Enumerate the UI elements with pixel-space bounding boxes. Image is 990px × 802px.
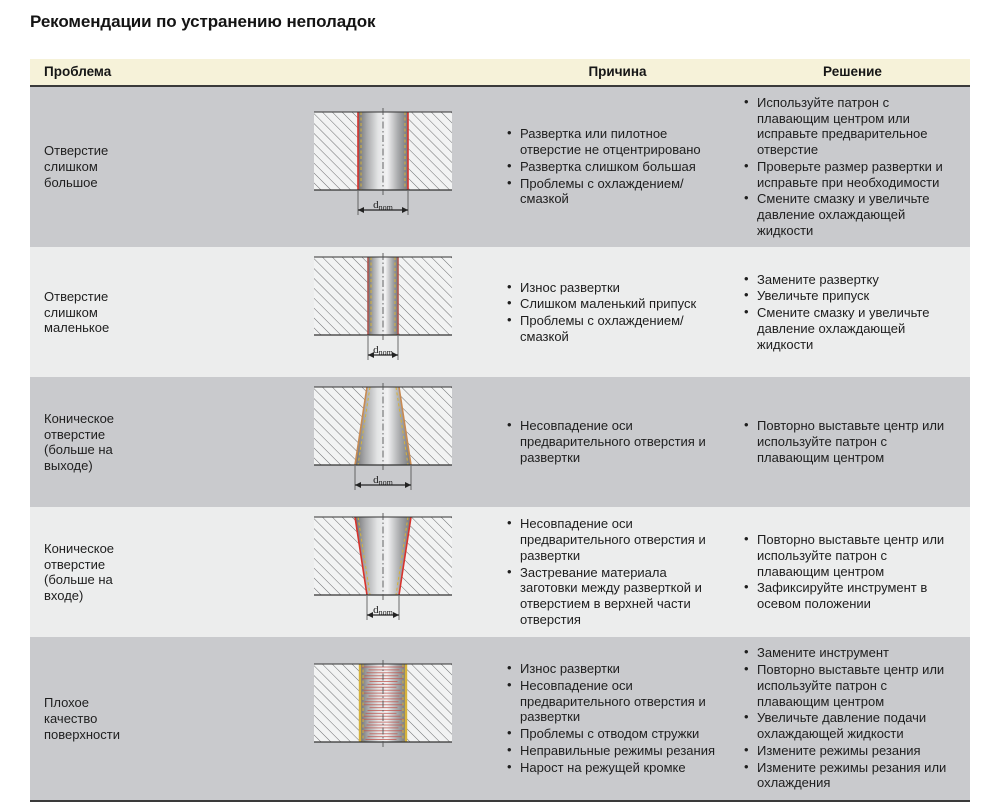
problem-text-line: качество bbox=[44, 711, 259, 727]
header-row: Проблема Причина Решение bbox=[30, 59, 970, 86]
page-title: Рекомендации по устранению неполадок bbox=[30, 12, 375, 32]
cause-list: Несовпадение оси предварительного отверс… bbox=[506, 516, 727, 627]
solution-item: Смените смазку и увеличьте давление охла… bbox=[743, 191, 962, 238]
cause-item: Проблемы с охлаждением/смазкой bbox=[506, 176, 727, 207]
cell-problem: Плохоекачествоповерхности bbox=[30, 637, 265, 800]
solution-item: Проверьте размер развертки и исправьте п… bbox=[743, 159, 962, 190]
problem-text-line: отверстие bbox=[44, 427, 259, 443]
cause-item: Застревание материала заготовки между ра… bbox=[506, 565, 727, 628]
table-row: Коническоеотверстие(больше навходе)dnomН… bbox=[30, 507, 970, 637]
problem-text-line: маленькое bbox=[44, 320, 259, 336]
cell-solution: Замените инструментПовторно выставьте це… bbox=[735, 637, 970, 800]
problem-text-line: Плохое bbox=[44, 695, 259, 711]
cause-item: Проблемы с охлаждением/смазкой bbox=[506, 313, 727, 344]
problem-text-line: Отверстие bbox=[44, 143, 259, 159]
solution-list: Используйте патрон с плавающим центром и… bbox=[743, 95, 962, 238]
cause-item: Износ развертки bbox=[506, 661, 727, 677]
solution-item: Увеличьте давление подачи охлаждающей жи… bbox=[743, 710, 962, 741]
solution-list: Повторно выставьте центр или используйте… bbox=[743, 532, 962, 612]
table-body: ОтверстиеслишкомбольшоеdnomРазвертка или… bbox=[30, 86, 970, 801]
cause-item: Износ развертки bbox=[506, 280, 727, 296]
troubleshooting-table-wrap: Проблема Причина Решение Отверстиеслишко… bbox=[30, 59, 970, 802]
cause-list: Развертка или пилотное отверстие не отце… bbox=[506, 126, 727, 207]
solution-item: Измените режимы резания или охлаждения bbox=[743, 760, 962, 791]
solution-item: Повторно выставьте центр или используйте… bbox=[743, 662, 962, 709]
problem-text-line: входе) bbox=[44, 588, 259, 604]
cell-problem: Коническоеотверстие(больше навыходе) bbox=[30, 377, 265, 507]
cell-problem: Коническоеотверстие(больше навходе) bbox=[30, 507, 265, 637]
solution-item: Используйте патрон с плавающим центром и… bbox=[743, 95, 962, 158]
solution-item: Смените смазку и увеличьте давление охла… bbox=[743, 305, 962, 352]
solution-item: Повторно выставьте центр или используйте… bbox=[743, 418, 962, 465]
solution-item: Увеличьте припуск bbox=[743, 288, 962, 304]
tapered-hole-wider-at-entry-section: dnom bbox=[308, 513, 458, 631]
cell-cause: Несовпадение оси предварительного отверс… bbox=[500, 507, 735, 637]
cause-item: Проблемы с отводом стружки bbox=[506, 726, 727, 742]
cause-item: Несовпадение оси предварительного отверс… bbox=[506, 516, 727, 563]
table-row: ПлохоекачествоповерхностиИзнос развертки… bbox=[30, 637, 970, 800]
cause-list: Износ разверткиНесовпадение оси предвари… bbox=[506, 661, 727, 775]
table-row: ОтверстиеслишкоммаленькоеdnomИзнос разве… bbox=[30, 247, 970, 377]
poor-surface-finish-section bbox=[308, 660, 458, 778]
solution-item: Замените развертку bbox=[743, 272, 962, 288]
cell-figure: dnom bbox=[265, 86, 500, 247]
solution-item: Измените режимы резания bbox=[743, 743, 962, 759]
cell-problem: Отверстиеслишкоммаленькое bbox=[30, 247, 265, 377]
cell-problem: Отверстиеслишкомбольшое bbox=[30, 86, 265, 247]
problem-text-line: Отверстие bbox=[44, 289, 259, 305]
tapered-hole-wider-at-exit-section: dnom bbox=[308, 383, 458, 501]
problem-text-line: отверстие bbox=[44, 557, 259, 573]
troubleshooting-page: Рекомендации по устранению неполадок Про… bbox=[0, 0, 990, 697]
problem-text-line: слишком bbox=[44, 305, 259, 321]
column-header-problem: Проблема bbox=[30, 59, 500, 86]
problem-text-line: Коническое bbox=[44, 411, 259, 427]
cell-cause: Износ разверткиНесовпадение оси предвари… bbox=[500, 637, 735, 800]
cause-item: Развертка слишком большая bbox=[506, 159, 727, 175]
cause-item: Развертка или пилотное отверстие не отце… bbox=[506, 126, 727, 157]
cell-cause: Развертка или пилотное отверстие не отце… bbox=[500, 86, 735, 247]
problem-text-line: (больше на bbox=[44, 442, 259, 458]
problem-text-line: большое bbox=[44, 175, 259, 191]
column-header-solution: Решение bbox=[735, 59, 970, 86]
table-row: ОтверстиеслишкомбольшоеdnomРазвертка или… bbox=[30, 86, 970, 247]
svg-text:dnom: dnom bbox=[373, 474, 394, 487]
cause-list: Износ разверткиСлишком маленький припуск… bbox=[506, 280, 727, 345]
cause-item: Неправильные режимы резания bbox=[506, 743, 727, 759]
solution-item: Повторно выставьте центр или используйте… bbox=[743, 532, 962, 579]
cell-figure bbox=[265, 637, 500, 800]
cause-item: Слишком маленький припуск bbox=[506, 296, 727, 312]
problem-text-line: (больше на bbox=[44, 572, 259, 588]
solution-item: Зафиксируйте инструмент в осевом положен… bbox=[743, 580, 962, 611]
table-row: Коническоеотверстие(больше навыходе)dnom… bbox=[30, 377, 970, 507]
troubleshooting-table: Проблема Причина Решение Отверстиеслишко… bbox=[30, 59, 970, 802]
solution-list: Повторно выставьте центр или используйте… bbox=[743, 418, 962, 465]
cause-item: Нарост на режущей кромке bbox=[506, 760, 727, 776]
cause-list: Несовпадение оси предварительного отверс… bbox=[506, 418, 727, 465]
problem-text-line: слишком bbox=[44, 159, 259, 175]
cell-solution: Замените разверткуУвеличьте припускСмени… bbox=[735, 247, 970, 377]
solution-list: Замените разверткуУвеличьте припускСмени… bbox=[743, 272, 962, 353]
cause-item: Несовпадение оси предварительного отверс… bbox=[506, 418, 727, 465]
cell-figure: dnom bbox=[265, 247, 500, 377]
cell-cause: Несовпадение оси предварительного отверс… bbox=[500, 377, 735, 507]
solution-list: Замените инструментПовторно выставьте це… bbox=[743, 645, 962, 790]
svg-text:dnom: dnom bbox=[373, 199, 394, 212]
cell-solution: Повторно выставьте центр или используйте… bbox=[735, 377, 970, 507]
svg-text:dnom: dnom bbox=[373, 344, 394, 357]
svg-text:dnom: dnom bbox=[373, 604, 394, 617]
hole-too-large-section: dnom bbox=[308, 108, 458, 226]
cell-figure: dnom bbox=[265, 507, 500, 637]
table-head: Проблема Причина Решение bbox=[30, 59, 970, 86]
problem-text-line: выходе) bbox=[44, 458, 259, 474]
problem-text-line: Коническое bbox=[44, 541, 259, 557]
cause-item: Несовпадение оси предварительного отверс… bbox=[506, 678, 727, 725]
cell-solution: Используйте патрон с плавающим центром и… bbox=[735, 86, 970, 247]
hole-too-small-section: dnom bbox=[308, 253, 458, 371]
solution-item: Замените инструмент bbox=[743, 645, 962, 661]
column-header-cause: Причина bbox=[500, 59, 735, 86]
cell-solution: Повторно выставьте центр или используйте… bbox=[735, 507, 970, 637]
cell-figure: dnom bbox=[265, 377, 500, 507]
problem-text-line: поверхности bbox=[44, 727, 259, 743]
cell-cause: Износ разверткиСлишком маленький припуск… bbox=[500, 247, 735, 377]
